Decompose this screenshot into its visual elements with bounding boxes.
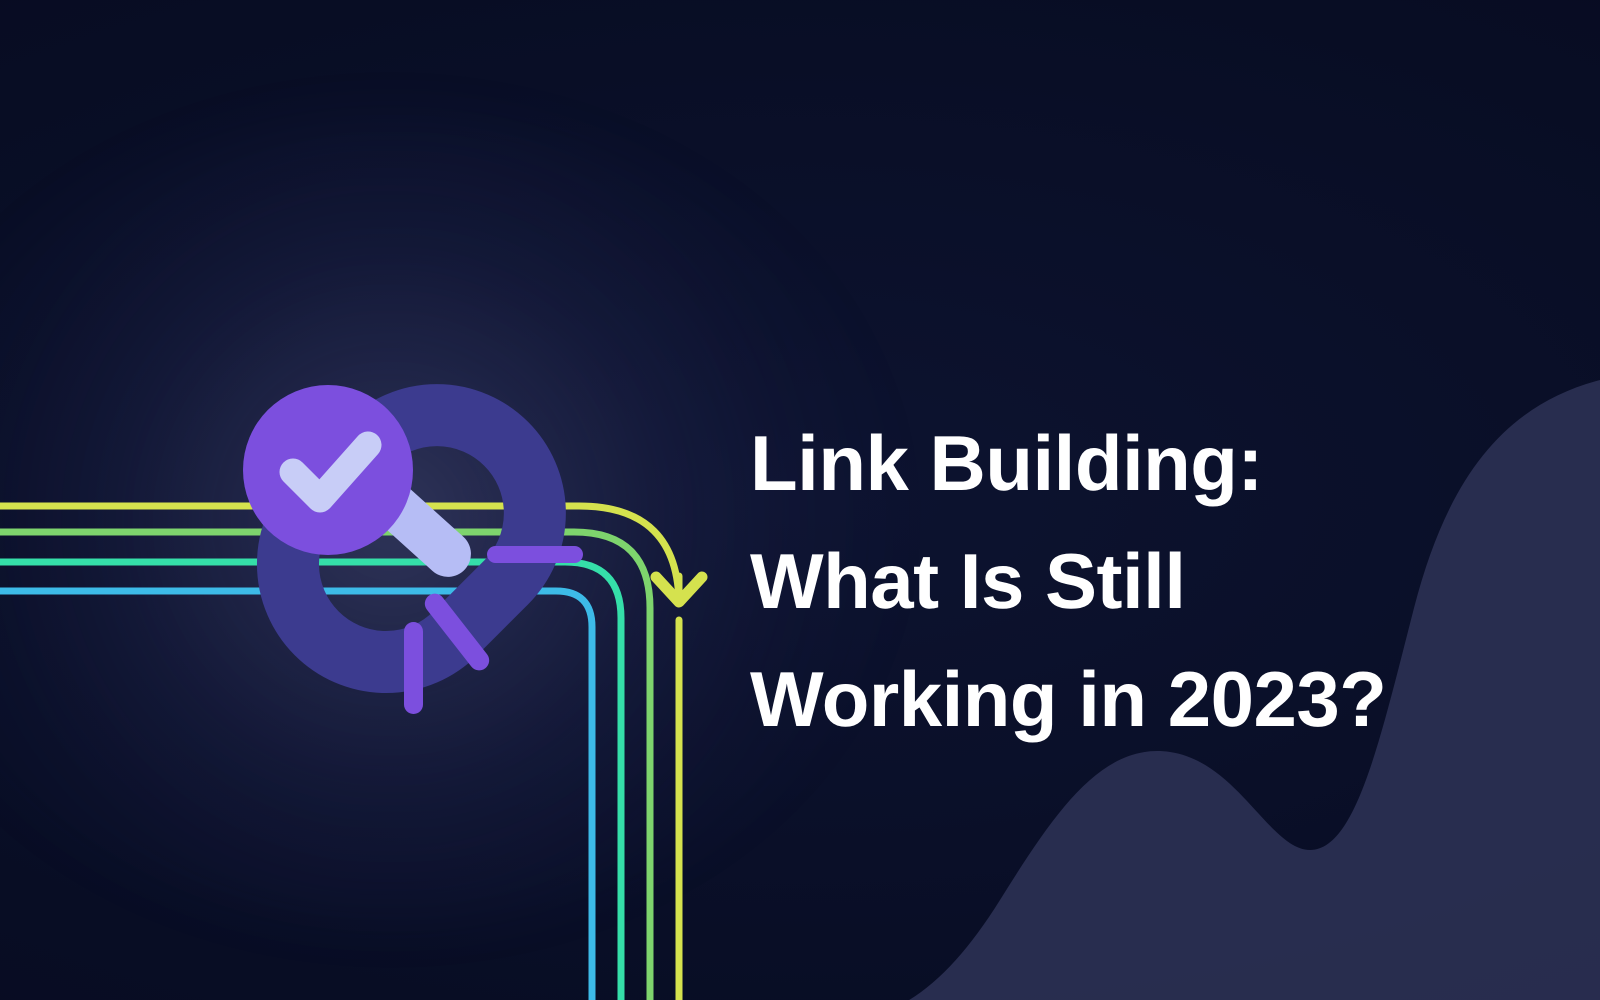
page-title: Link Building: What Is Still Working in … <box>750 404 1510 758</box>
hero-banner: Link Building: What Is Still Working in … <box>0 0 1600 1000</box>
